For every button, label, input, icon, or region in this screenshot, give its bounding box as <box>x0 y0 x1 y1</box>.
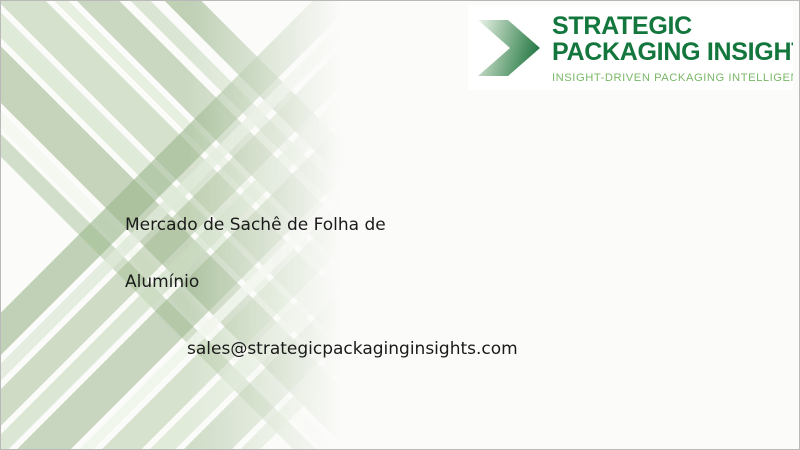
logo-line-1: STRATEGIC <box>552 13 793 39</box>
title-line-1: Mercado de Sachê de Folha de <box>125 215 545 235</box>
presentation-slide: STRATEGIC PACKAGING INSIGHTS INSIGHT-DRI… <box>0 0 800 450</box>
contact-email[interactable]: sales@strategicpackaginginsights.com <box>187 339 518 359</box>
logo-line-2: PACKAGING INSIGHTS <box>552 39 793 65</box>
chevron-logo-mark-icon <box>474 17 544 79</box>
title-line-2: Alumínio <box>125 272 545 292</box>
logo-tagline: INSIGHT-DRIVEN PACKAGING INTELLIGENCE <box>552 71 793 85</box>
company-logo: STRATEGIC PACKAGING INSIGHTS INSIGHT-DRI… <box>468 5 793 90</box>
slide-title: Mercado de Sachê de Folha de Alumínio <box>125 215 545 292</box>
logo-wordmark: STRATEGIC PACKAGING INSIGHTS INSIGHT-DRI… <box>552 11 793 85</box>
